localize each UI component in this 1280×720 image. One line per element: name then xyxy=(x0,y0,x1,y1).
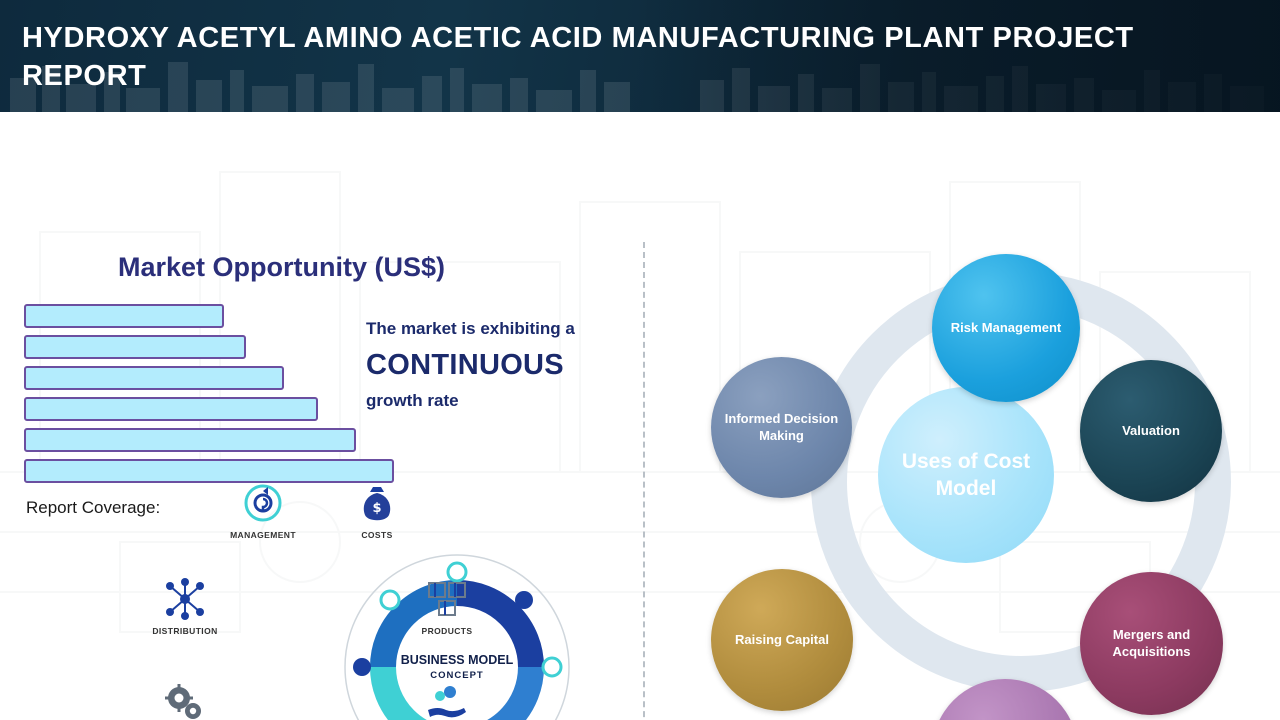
money-bag-icon: $ xyxy=(322,480,432,526)
gears-icon xyxy=(130,680,240,720)
node-raising-capital: Raising Capital xyxy=(711,569,853,711)
node-label-valuation: Valuation xyxy=(1122,423,1180,439)
node-label-risk-management: Risk Management xyxy=(951,320,1062,336)
market-statement-line1: The market is exhibiting a xyxy=(366,319,575,338)
node-label-mergers-and-acquisitions: Mergers and Acquisitions xyxy=(1080,627,1223,660)
market-statement: The market is exhibiting a CONTINUOUS gr… xyxy=(366,318,646,411)
coverage-label-management: MANAGEMENT xyxy=(208,530,318,540)
coverage-item-services: SERVICES xyxy=(130,680,240,720)
bar-2 xyxy=(24,335,246,359)
business-model-line1: BUSINESS MODEL xyxy=(401,653,514,667)
coverage-label-distribution: DISTRIBUTION xyxy=(130,626,240,636)
report-coverage-cluster: BUSINESS MODEL CONCEPT MANAGEMENT xyxy=(140,480,640,720)
bar-5 xyxy=(24,428,356,452)
page-header: Hydroxy Acetyl Amino Acetic Acid Manufac… xyxy=(0,0,1280,112)
node-informed-decision-making: Informed Decision Making xyxy=(711,357,852,498)
management-icon xyxy=(208,480,318,526)
market-opportunity-title: Market Opportunity (US$) xyxy=(118,252,445,283)
cost-model-diagram: Uses of Cost Model Risk Management Valua… xyxy=(643,224,1280,720)
center-node-label: Uses of Cost Model xyxy=(878,448,1054,503)
coverage-item-management: MANAGEMENT xyxy=(208,480,318,540)
coverage-label-costs: COSTS xyxy=(322,530,432,540)
page-body: Market Opportunity (US$) The market is e… xyxy=(0,112,1280,720)
distribution-network-icon xyxy=(130,576,240,622)
coverage-label-products: PRODUCTS xyxy=(392,626,502,636)
node-risk-management: Risk Management xyxy=(932,254,1080,402)
boxes-icon xyxy=(392,576,502,622)
market-opportunity-bar-chart xyxy=(24,304,424,474)
coverage-item-costs: $ COSTS xyxy=(322,480,432,540)
hand-coin-icon xyxy=(392,680,502,720)
bar-3 xyxy=(24,366,284,390)
page-title: Hydroxy Acetyl Amino Acetic Acid Manufac… xyxy=(22,20,1222,95)
coverage-item-distribution: DISTRIBUTION xyxy=(130,576,240,636)
market-statement-highlight: CONTINUOUS xyxy=(366,347,646,383)
bar-4 xyxy=(24,397,318,421)
bar-1 xyxy=(24,304,224,328)
node-label-informed-decision-making: Informed Decision Making xyxy=(711,411,852,444)
market-statement-line2: growth rate xyxy=(366,390,646,411)
node-label-raising-capital: Raising Capital xyxy=(735,632,829,648)
coverage-item-revenue: REVENUE xyxy=(392,680,502,720)
coverage-item-products: PRODUCTS xyxy=(392,576,502,636)
node-mergers-and-acquisitions: Mergers and Acquisitions xyxy=(1080,572,1223,715)
node-valuation: Valuation xyxy=(1080,360,1222,502)
svg-text:$: $ xyxy=(372,501,381,516)
center-node-uses-of-cost-model: Uses of Cost Model xyxy=(878,387,1054,563)
